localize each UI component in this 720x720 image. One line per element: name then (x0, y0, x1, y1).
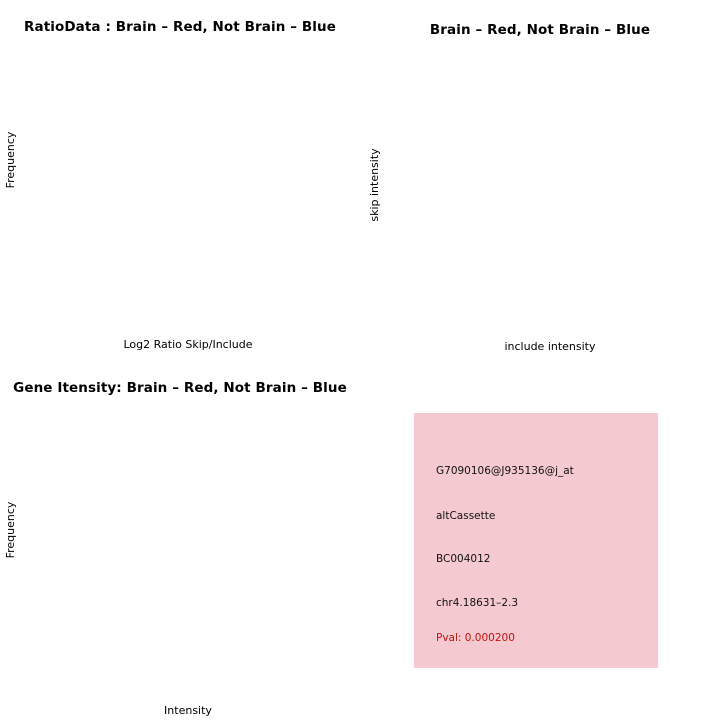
gene-histogram-title: Gene Itensity: Brain – Red, Not Brain – … (0, 380, 360, 396)
info-probe-id: G7090106@J935136@j_at (436, 465, 574, 477)
ratio-histogram-title: RatioData : Brain – Red, Not Brain – Blu… (0, 19, 360, 35)
ratio-histogram-svg: Frequency Log2 Ratio Skip/Include (0, 0, 360, 360)
scatter-title: Brain – Red, Not Brain – Blue (360, 22, 720, 38)
ratio-histogram-ylabel: Frequency (4, 131, 17, 188)
figure-canvas: RatioData : Brain – Red, Not Brain – Blu… (0, 0, 720, 720)
ratio-histogram-xlabel: Log2 Ratio Skip/Include (123, 338, 252, 351)
scatter-panel: Brain – Red, Not Brain – Blue skip inten… (360, 0, 720, 360)
info-event-type: altCassette (436, 510, 495, 522)
gene-histogram-panel: Gene Itensity: Brain – Red, Not Brain – … (0, 360, 360, 720)
scatter-xlabel: include intensity (504, 340, 596, 353)
scatter-ylabel: skip intensity (368, 148, 381, 222)
gene-histogram-ylabel: Frequency (4, 501, 17, 558)
info-locus: chr4.18631–2.3 (436, 597, 518, 609)
ratio-histogram-panel: RatioData : Brain – Red, Not Brain – Blu… (0, 0, 360, 360)
scatter-svg: skip intensity include intensity (360, 0, 720, 360)
gene-info-panel: G7090106@J935136@j_at altCassette BC0040… (414, 413, 658, 668)
info-accession: BC004012 (436, 553, 490, 565)
info-pvalue: Pval: 0.000200 (436, 632, 515, 644)
gene-histogram-svg: Frequency Intensity (0, 360, 360, 720)
gene-histogram-xlabel: Intensity (164, 704, 212, 717)
